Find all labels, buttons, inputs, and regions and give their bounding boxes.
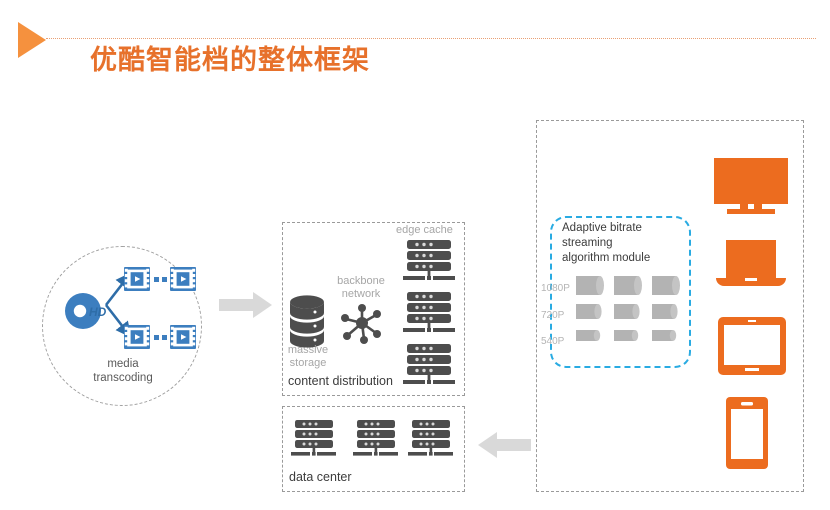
backbone-network-label-line2: network (332, 288, 390, 300)
transcoded-stream-row-2 (124, 325, 196, 351)
page-title: 优酷智能档的整体框架 (90, 38, 370, 77)
data-center-server-rack (353, 420, 399, 464)
media-transcoding-label: media transcoding (71, 357, 175, 385)
slide-canvas: 优酷智能档的整体框架 HD (0, 0, 830, 510)
data-center-server-rack (408, 420, 454, 464)
media-transcoding-label-line1: media (71, 357, 175, 371)
laptop-icon (716, 240, 786, 288)
backbone-network-icon (340, 301, 384, 345)
massive-storage-icon (288, 294, 326, 350)
data-center-label: data center (289, 470, 352, 484)
abr-module-title-line2: algorithm module (562, 251, 690, 266)
edge-cache-server-stack (403, 292, 455, 340)
edge-cache-server-stack (403, 240, 455, 288)
data-center-server-rack (291, 420, 337, 464)
arrow-transcoding-to-cdn-icon (219, 292, 273, 318)
bitrate-row-1080p (576, 276, 680, 295)
edge-cache-label: edge cache (396, 224, 453, 236)
resolution-label-1080p: 1080P (541, 283, 570, 294)
arrow-abr-to-datacenter-icon (478, 432, 532, 458)
tv-monitor-icon (714, 158, 788, 214)
bitrate-row-720p (576, 304, 678, 319)
bitrate-ladder-grid (576, 276, 684, 352)
backbone-network-label-line1: backbone (332, 275, 390, 287)
media-transcoding-label-line2: transcoding (71, 371, 175, 385)
abr-module-title: Adaptive bitrate streaming algorithm mod… (562, 221, 690, 266)
smartphone-icon (726, 397, 768, 469)
massive-storage-label-line1: massive (287, 344, 329, 356)
header-triangle-icon (18, 22, 46, 58)
transcoded-stream-row-1 (124, 267, 196, 293)
abr-module-title-line1: Adaptive bitrate streaming (562, 221, 690, 251)
massive-storage-label-line2: storage (287, 357, 329, 369)
resolution-label-540p: 540P (541, 336, 564, 347)
resolution-label-720p: 720P (541, 310, 564, 321)
bitrate-row-540p (576, 330, 676, 341)
content-distribution-label: content distribution (288, 374, 393, 388)
edge-cache-server-stack (403, 344, 455, 392)
tablet-icon (718, 317, 786, 375)
